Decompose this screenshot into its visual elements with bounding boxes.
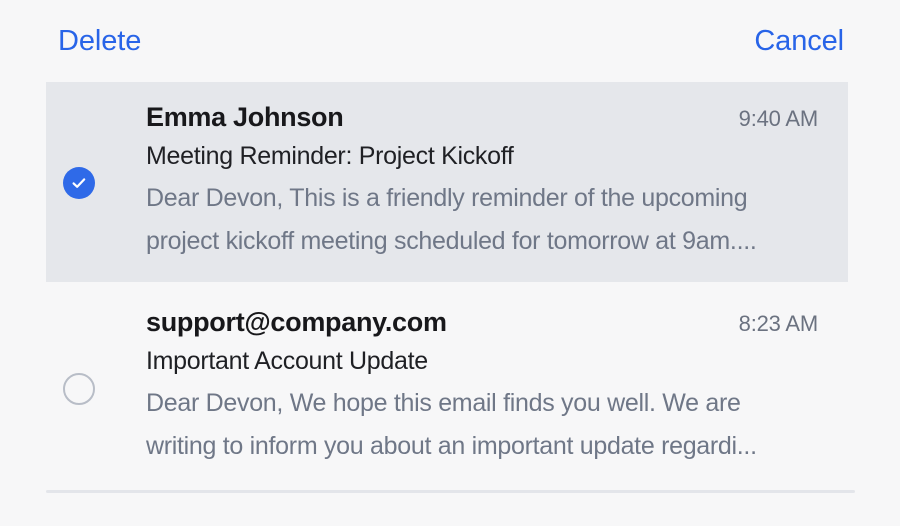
email-preview: Dear Devon, We hope this email finds you… — [146, 382, 806, 468]
circle-outline-icon[interactable] — [63, 373, 95, 405]
email-content: Emma Johnson 9:40 AM Meeting Reminder: P… — [112, 102, 848, 263]
email-timestamp: 8:23 AM — [723, 311, 818, 337]
email-list-item[interactable]: support@company.com 8:23 AM Important Ac… — [46, 285, 848, 490]
toolbar: Delete Cancel — [0, 0, 900, 82]
email-subject: Meeting Reminder: Project Kickoff — [146, 142, 818, 171]
select-checkbox-cell — [46, 373, 112, 405]
email-sender: support@company.com — [146, 307, 447, 338]
email-sender: Emma Johnson — [146, 102, 343, 133]
delete-button[interactable]: Delete — [58, 27, 141, 56]
cancel-button[interactable]: Cancel — [754, 27, 844, 56]
email-timestamp: 9:40 AM — [723, 106, 818, 132]
email-list-item[interactable]: Emma Johnson 9:40 AM Meeting Reminder: P… — [46, 82, 848, 282]
email-list: Emma Johnson 9:40 AM Meeting Reminder: P… — [0, 82, 900, 493]
email-header-line: Emma Johnson 9:40 AM — [146, 102, 818, 133]
email-preview: Dear Devon, This is a friendly reminder … — [146, 177, 806, 263]
email-subject: Important Account Update — [146, 347, 818, 376]
select-checkbox-cell — [46, 167, 112, 199]
email-selection-screen: Delete Cancel Emma Johnson 9:40 AM Meeti… — [0, 0, 900, 526]
list-divider — [46, 490, 855, 493]
check-circle-filled-icon[interactable] — [63, 167, 95, 199]
email-content: support@company.com 8:23 AM Important Ac… — [112, 307, 848, 468]
email-header-line: support@company.com 8:23 AM — [146, 307, 818, 338]
